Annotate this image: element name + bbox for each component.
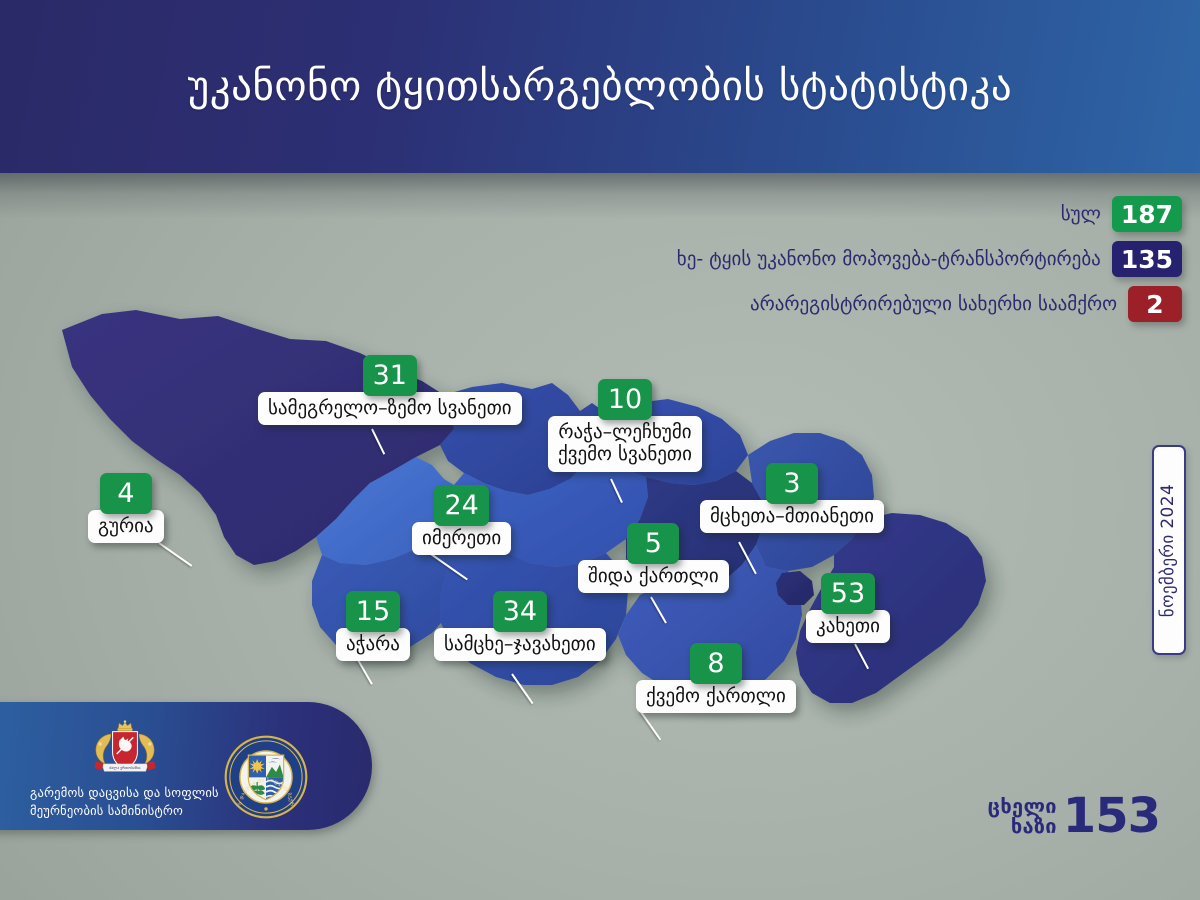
legend: სულ 187 ხე- ტყის უკანონო მოპოვება-ტრანსპ…	[677, 196, 1182, 322]
ministry-brand-bar: ძალა ერთობაშია გარემოს დაცვისა და სოფლის…	[0, 702, 372, 830]
marker-shida-kartli: 5 შიდა ქართლი	[578, 523, 729, 593]
infographic-canvas: უკანონო ტყითსარგებლობის სტატისტიკა სულ 1…	[0, 0, 1200, 900]
marker-value-mtskheta: 3	[766, 463, 818, 504]
marker-value-kvemo: 8	[690, 643, 742, 684]
page-title: უკანონო ტყითსარგებლობის სტატისტიკა	[188, 66, 1012, 107]
marker-samtskhe-javakheti: 34 სამცხე–ჯავახეთი	[434, 591, 606, 661]
legend-label-transport: ხე- ტყის უკანონო მოპოვება-ტრანსპორტირება	[677, 250, 1101, 269]
georgia-coat-of-arms-icon: ძალა ერთობაშია	[82, 720, 168, 778]
marker-label-adjara: აჭარა	[336, 628, 410, 661]
marker-value-racha: 10	[598, 379, 652, 420]
hotline-label: ცხელი ხაზი	[988, 796, 1057, 837]
ministry-block: ძალა ერთობაშია გარემოს დაცვისა და სოფლის…	[30, 720, 220, 820]
marker-label-samtskhe: სამცხე–ჯავახეთი	[434, 628, 606, 661]
hotline: ცხელი ხაზი 153	[988, 794, 1160, 838]
ministry-name: გარემოს დაცვისა და სოფლის მეურნეობის სამ…	[30, 784, 220, 820]
marker-label-guria: გურია	[88, 510, 164, 543]
hotline-number: 153	[1063, 794, 1160, 838]
marker-kvemo-kartli: 8 ქვემო ქართლი	[636, 643, 796, 713]
marker-label-samegrelo: სამეგრელო–ზემო სვანეთი	[258, 392, 522, 425]
legend-row-sawmill: არარეგისტრირებული სახერხი საამქრო 2	[750, 286, 1182, 322]
marker-kakheti: 53 კახეთი	[806, 573, 890, 643]
marker-adjara: 15 აჭარა	[336, 591, 410, 661]
marker-value-kakheti: 53	[821, 573, 875, 614]
legend-label-total: სულ	[1061, 205, 1101, 224]
marker-label-kakheti: კახეთი	[806, 610, 890, 643]
marker-label-kvemo: ქვემო ქართლი	[636, 680, 796, 713]
marker-imereti: 24 იმერეთი	[412, 485, 511, 555]
marker-label-racha: რაჭა–ლეჩხუმი ქვემო სვანეთი	[548, 416, 702, 472]
marker-value-adjara: 15	[346, 591, 400, 632]
date-tab-label: ნოემბერი 2024	[1161, 483, 1178, 616]
marker-label-imereti: იმერეთი	[412, 522, 511, 555]
marker-value-shida: 5	[627, 523, 679, 564]
svg-text:ძალა ერთობაშია: ძალა ერთობაშია	[109, 766, 140, 770]
legend-badge-total: 187	[1112, 196, 1182, 232]
legend-badge-sawmill: 2	[1128, 286, 1182, 322]
marker-guria: 4 გურია	[88, 473, 164, 543]
marker-value-samtskhe: 34	[493, 591, 547, 632]
marker-racha-lechkhumi: 10 რაჭა–ლეჩხუმი ქვემო სვანეთი	[548, 379, 702, 472]
legend-label-sawmill: არარეგისტრირებული სახერხი საამქრო	[750, 295, 1117, 314]
date-tab: ნოემბერი 2024	[1152, 445, 1186, 655]
header-banner: უკანონო ტყითსარგებლობის სტატისტიკა	[0, 0, 1200, 173]
marker-label-shida: შიდა ქართლი	[578, 560, 729, 593]
legend-row-total: სულ 187	[1061, 196, 1182, 232]
legend-row-transport: ხე- ტყის უკანონო მოპოვება-ტრანსპორტირება…	[677, 241, 1182, 277]
marker-value-samegrelo: 31	[363, 355, 417, 396]
legend-badge-transport: 135	[1112, 241, 1182, 277]
marker-value-guria: 4	[100, 473, 152, 514]
ministry-seal-icon: გარემოს დაცვისა და სოფლის მეურნეობის	[224, 735, 308, 819]
marker-samegrelo-zemo-svaneti: 31 სამეგრელო–ზემო სვანეთი	[258, 355, 522, 425]
marker-value-imereti: 24	[434, 485, 488, 526]
